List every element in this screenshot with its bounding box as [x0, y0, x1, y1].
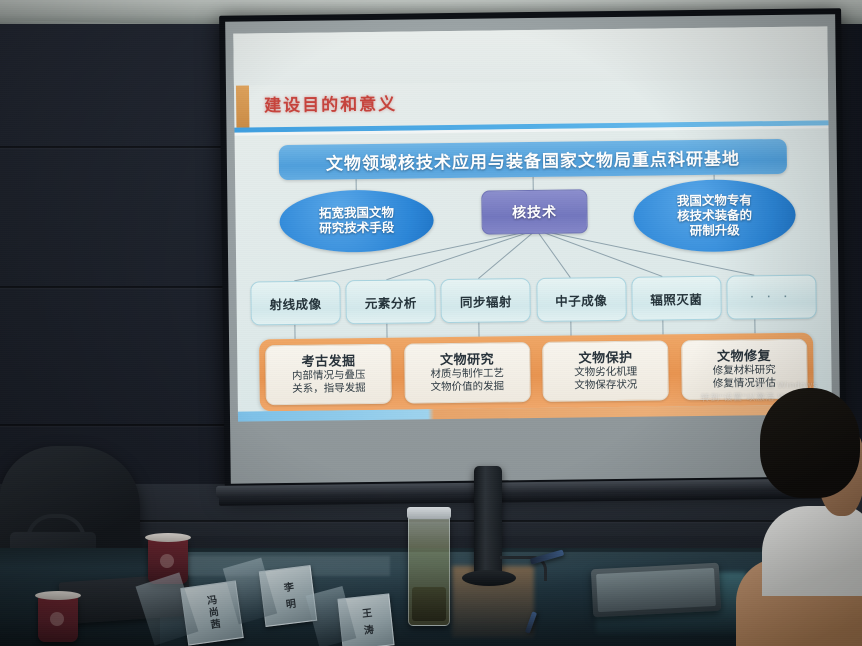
name-card-text: 冯尚茜 — [202, 594, 222, 632]
wall-seam — [0, 146, 236, 148]
seated-person — [744, 388, 862, 646]
application-line1: 材质与制作工艺 — [430, 367, 504, 381]
technique-row: 射线成像 元素分析 同步辐射 中子成像 辐照灭菌 · · · — [250, 275, 816, 324]
application-title: 考古发掘 — [301, 353, 355, 370]
left-wall-panels — [0, 24, 236, 484]
base-title-text: 文物领域核技术应用与装备国家文物局重点科研基地 — [326, 144, 740, 174]
tablet-screen — [596, 568, 716, 612]
name-card-text: 李 明 — [279, 581, 297, 611]
technique-label: 元素分析 — [365, 292, 417, 312]
technique-box-ellipsis: · · · — [726, 275, 817, 320]
application-line1: 文物劣化机理 — [574, 366, 637, 380]
name-card-text: 王 涛 — [357, 607, 375, 637]
core-technology-label: 核技术 — [512, 202, 557, 223]
application-box: 文物研究 材质与制作工艺 文物价值的发掘 — [404, 342, 531, 404]
technique-label: 中子成像 — [555, 290, 607, 310]
goal-right-line3: 研制升级 — [690, 223, 740, 239]
technique-label: · · · — [750, 291, 792, 304]
tea-glass — [408, 514, 450, 626]
core-technology-box: 核技术 — [481, 189, 588, 234]
cup-logo — [50, 612, 64, 626]
wall-seam — [0, 424, 236, 426]
application-title: 文物保护 — [578, 350, 632, 367]
cup-logo — [160, 554, 174, 568]
technique-box: 辐照灭菌 — [631, 276, 722, 321]
application-box: 考古发掘 内部情况与叠压 关系，指导发掘 — [265, 344, 392, 406]
application-line2: 文物价值的发掘 — [431, 380, 505, 394]
person-shoulder — [762, 506, 862, 596]
technique-label: 辐照灭菌 — [650, 288, 702, 308]
tea-glass-lid — [407, 507, 451, 519]
technique-label: 同步辐射 — [460, 291, 512, 311]
slide-title: 建设目的和意义 — [264, 90, 397, 117]
goal-right-line2: 核技术装备的 — [677, 208, 752, 224]
application-line1: 内部情况与叠压 — [292, 369, 366, 383]
technique-box: 同步辐射 — [441, 278, 532, 323]
application-line2: 关系，指导发掘 — [292, 382, 366, 396]
technique-label: 射线成像 — [269, 293, 321, 313]
title-accent-bar — [236, 85, 250, 127]
slide-top-band — [233, 26, 828, 85]
application-line2: 文物保存状况 — [574, 379, 637, 393]
goal-left-line2: 研究技术手段 — [319, 221, 394, 237]
conference-room-photo: 建设目的和意义 — [0, 0, 862, 646]
tea-leaves — [412, 587, 446, 621]
presentation-slide: 建设目的和意义 — [233, 26, 832, 415]
technique-box: 元素分析 — [346, 279, 437, 324]
application-box: 文物保护 文物劣化机理 文物保存状况 — [542, 340, 669, 402]
person-head — [760, 388, 860, 498]
goal-right-line1: 我国文物专有 — [677, 193, 752, 209]
tablet-device — [591, 563, 721, 618]
goal-left-ellipse: 拓宽我国文物 研究技术手段 — [279, 189, 434, 253]
technique-box: 中子成像 — [536, 277, 627, 322]
application-title: 文物研究 — [440, 351, 494, 368]
goal-left-line1: 拓宽我国文物 — [319, 206, 394, 222]
base-title-banner: 文物领域核技术应用与装备国家文物局重点科研基地 — [279, 139, 787, 180]
conference-microphone — [474, 466, 502, 578]
goal-right-ellipse: 我国文物专有 核技术装备的 研制升级 — [633, 179, 796, 253]
paper-cup — [38, 596, 78, 642]
application-title: 文物修复 — [717, 348, 771, 365]
technique-box: 射线成像 — [250, 280, 341, 325]
wall-seam — [0, 286, 236, 288]
application-line1: 修复材料研究 — [713, 364, 776, 378]
